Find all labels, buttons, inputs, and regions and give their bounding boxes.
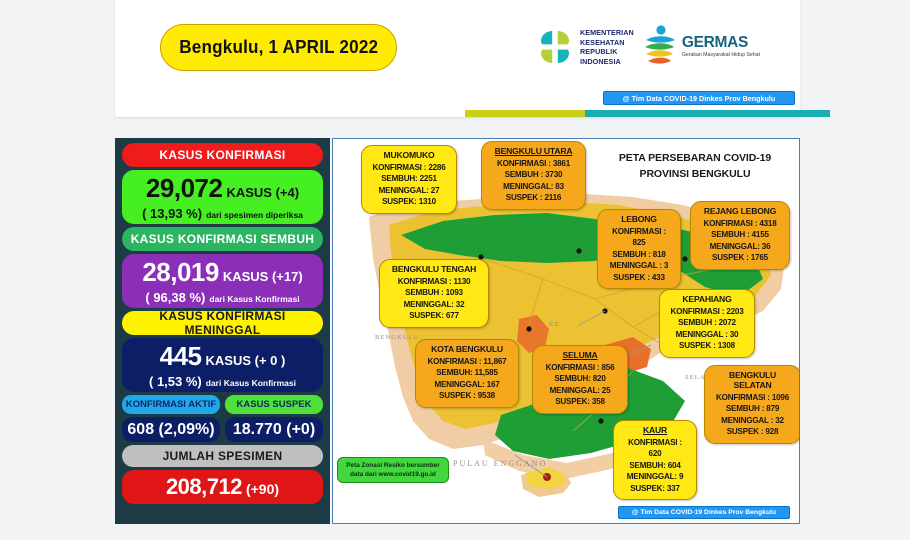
region-sembuh: SEMBUH: 604 — [621, 460, 689, 471]
deaths-percent: ( 1,53 %) — [149, 374, 202, 389]
region-konfirmasi: KONFIRMASI : 2286 — [369, 162, 449, 173]
region-konfirmasi: KONFIRMASI : 11,867 — [423, 356, 511, 367]
region-box-rejang-lebong[interactable]: REJANG LEBONG KONFIRMASI : 4318 SEMBUH :… — [690, 201, 790, 270]
region-box-kaur[interactable]: KAUR KONFIRMASI : 620 SEMBUH: 604 MENING… — [613, 420, 697, 500]
region-konfirmasi: KONFIRMASI : 1130 — [387, 276, 481, 287]
specimens-value-block: 208,712 (+90) — [122, 470, 323, 504]
region-sembuh: SEMBUH : 2072 — [667, 317, 747, 328]
recovered-value: 28,019 — [142, 257, 219, 288]
kemenkes-line-3: REPUBLIK — [580, 47, 634, 57]
region-konfirmasi: KONFIRMASI : 3861 — [489, 158, 578, 169]
region-box-seluma[interactable]: SELUMA KONFIRMASI : 856 SEMBUH: 820 MENI… — [532, 345, 628, 414]
region-sembuh: SEMBUH : 818 — [605, 249, 673, 260]
active-value: 608 (2,09%) — [127, 421, 214, 439]
deaths-percent-note: dari Kasus Konfirmasi — [206, 378, 296, 388]
specimens-header: JUMLAH SPESIMEN — [122, 445, 323, 467]
region-name: LEBONG — [605, 214, 673, 224]
kemenkes-wordmark: KEMENTERIAN KESEHATAN REPUBLIK INDONESIA — [580, 28, 634, 66]
confirmed-sub-line: ( 13,93 %) dari spesimen diperiksa — [142, 206, 303, 221]
region-box-kepahiang[interactable]: KEPAHIANG KONFIRMASI : 2203 SEMBUH : 207… — [659, 289, 755, 358]
region-konfirmasi: KONFIRMASI : 856 — [540, 362, 620, 373]
region-sembuh: SEMBUH: 11,585 — [423, 367, 511, 378]
specimens-main-line: 208,712 (+90) — [166, 474, 279, 500]
germas-subtitle: Gerakan Masyarakat Hidup Sehat — [682, 52, 760, 59]
region-name: KEPAHIANG — [667, 294, 747, 304]
geo-label-enggano: PULAU ENGGANO — [453, 459, 547, 468]
recovered-percent-note: dari Kasus Konfirmasi — [209, 294, 299, 304]
accent-bar-teal — [585, 110, 830, 117]
region-sembuh: SEMBUH : 1093 — [387, 287, 481, 298]
confirmed-percent-note: dari spesimen diperiksa — [206, 210, 303, 220]
region-meninggal: MENINGGAL: 32 — [387, 299, 481, 310]
recovered-header: KASUS KONFIRMASI SEMBUH — [122, 227, 323, 251]
date-badge: Bengkulu, 1 APRIL 2022 — [160, 24, 397, 71]
region-name: BENGKULU SELATAN — [712, 370, 793, 390]
logo-row: KEMENTERIAN KESEHATAN REPUBLIK INDONESIA… — [535, 14, 785, 80]
confirmed-header: KASUS KONFIRMASI — [122, 143, 323, 167]
region-name: BENGKULU TENGAH — [387, 264, 481, 274]
region-meninggal: MENINGGAL : 30 — [667, 329, 747, 340]
confirmed-value: 29,072 — [146, 173, 223, 204]
region-suspek: SUSPEK: 677 — [387, 310, 481, 321]
kemenkes-line-1: KEMENTERIAN — [580, 28, 634, 38]
germas-figure-icon — [642, 24, 678, 70]
map-credit-text: @ Tim Data COVID-19 Dinkes Prov Bengkulu — [632, 509, 776, 516]
region-name: REJANG LEBONG — [698, 206, 782, 216]
suspect-header-label: KASUS SUSPEK — [237, 399, 312, 410]
region-meninggal: MENINGGAL : 3 — [605, 260, 673, 271]
map-credit-badge: @ Tim Data COVID-19 Dinkes Prov Bengkulu — [618, 506, 790, 519]
confirmed-header-label: KASUS KONFIRMASI — [159, 148, 285, 162]
suspect-column: KASUS SUSPEK 18.770 (+0) — [225, 395, 323, 442]
region-name: MUKOMUKO — [369, 150, 449, 160]
region-box-kota-bengkulu[interactable]: KOTA BENGKULU KONFIRMASI : 11,867 SEMBUH… — [415, 339, 519, 408]
confirmed-value-block: 29,072 KASUS (+4) ( 13,93 %) dari spesim… — [122, 170, 323, 224]
specimens-value: 208,712 — [166, 474, 242, 500]
active-column: KONFIRMASI AKTIF 608 (2,09%) — [122, 395, 220, 442]
stats-panel: KASUS KONFIRMASI 29,072 KASUS (+4) ( 13,… — [115, 138, 330, 524]
recovered-header-label: KASUS KONFIRMASI SEMBUH — [131, 232, 315, 246]
recovered-value-block: 28,019 KASUS (+17) ( 96,38 %) dari Kasus… — [122, 254, 323, 308]
deaths-value: 445 — [160, 341, 202, 372]
germas-logo: GERMAS Gerakan Masyarakat Hidup Sehat — [642, 24, 760, 70]
deaths-value-block: 445 KASUS (+ 0 ) ( 1,53 %) dari Kasus Ko… — [122, 338, 323, 392]
deaths-header: KASUS KONFIRMASI MENINGGAL — [122, 311, 323, 335]
deaths-unit: KASUS (+ 0 ) — [206, 353, 286, 368]
region-box-mukomuko[interactable]: MUKOMUKO KONFIRMASI : 2286 SEMBUH: 2251 … — [361, 145, 457, 214]
region-meninggal: MENINGGAL: 25 — [540, 385, 620, 396]
deaths-main-line: 445 KASUS (+ 0 ) — [160, 341, 286, 372]
region-sembuh: SEMBUH : 879 — [712, 403, 793, 414]
region-box-bengkulu-selatan[interactable]: BENGKULU SELATAN KONFIRMASI : 1096 SEMBU… — [704, 365, 800, 444]
region-meninggal: MENINGGAL: 27 — [369, 185, 449, 196]
region-konfirmasi: KONFIRMASI : 620 — [621, 437, 689, 460]
region-name: BENGKULU UTARA — [489, 146, 578, 156]
header-credit-text: @ Tim Data COVID-19 Dinkes Prov Bengkulu — [623, 94, 776, 103]
zone-source-note: Peta Zonasi Resiko bersumber data dari w… — [337, 457, 449, 483]
active-header: KONFIRMASI AKTIF — [122, 395, 220, 414]
confirmed-unit: KASUS (+4) — [226, 185, 299, 200]
deaths-sub-line: ( 1,53 %) dari Kasus Konfirmasi — [149, 374, 296, 389]
region-meninggal: MENINGGAL: 36 — [698, 241, 782, 252]
region-suspek: SUSPEK : 1765 — [698, 252, 782, 263]
region-box-bengkulu-utara[interactable]: BENGKULU UTARA KONFIRMASI : 3861 SEMBUH … — [481, 141, 586, 210]
region-suspek: SUSPEK: 1310 — [369, 196, 449, 207]
germas-wordmark: GERMAS Gerakan Masyarakat Hidup Sehat — [682, 35, 760, 60]
region-konfirmasi: KONFIRMASI : 1096 — [712, 392, 793, 403]
region-meninggal: MENINGGAL : 32 — [712, 415, 793, 426]
region-meninggal: MENINGGAL: 9 — [621, 471, 689, 482]
active-header-label: KONFIRMASI AKTIF — [126, 399, 216, 410]
dashboard-page: Bengkulu, 1 APRIL 2022 KEMENTERIAN KESEH… — [0, 0, 910, 540]
region-suspek: SUSPEK : 2116 — [489, 192, 578, 203]
suspect-header: KASUS SUSPEK — [225, 395, 323, 414]
header-credit-badge: @ Tim Data COVID-19 Dinkes Prov Bengkulu — [603, 91, 795, 105]
recovered-percent: ( 96,38 %) — [145, 290, 205, 305]
header-card: Bengkulu, 1 APRIL 2022 KEMENTERIAN KESEH… — [115, 0, 800, 117]
geo-label-bengkulu: BENGKULU — [375, 334, 420, 341]
deaths-header-label: KASUS KONFIRMASI MENINGGAL — [122, 309, 323, 337]
region-suspek: SUSPEK: 358 — [540, 396, 620, 407]
region-box-bengkulu-tengah[interactable]: BENGKULU TENGAH KONFIRMASI : 1130 SEMBUH… — [379, 259, 489, 328]
map-panel: PETA PERSEBARAN COVID-19 PROVINSI BENGKU… — [332, 138, 800, 524]
region-meninggal: MENINGGAL: 167 — [423, 379, 511, 390]
recovered-unit: KASUS (+17) — [223, 269, 303, 284]
region-box-lebong[interactable]: LEBONG KONFIRMASI : 825 SEMBUH : 818 MEN… — [597, 209, 681, 289]
active-value-block: 608 (2,09%) — [122, 417, 220, 442]
specimens-unit: (+90) — [246, 481, 279, 497]
region-suspek: SUSPEK : 928 — [712, 426, 793, 437]
region-suspek: SUSPEK : 433 — [605, 272, 673, 283]
region-sembuh: SEMBUH : 3730 — [489, 169, 578, 180]
confirmed-main-line: 29,072 KASUS (+4) — [146, 173, 299, 204]
region-suspek: SUSPEK: 337 — [621, 483, 689, 494]
region-sembuh: SEMBUH: 2251 — [369, 173, 449, 184]
region-name: KOTA BENGKULU — [423, 344, 511, 354]
recovered-main-line: 28,019 KASUS (+17) — [142, 257, 302, 288]
accent-bar-yellow — [465, 110, 585, 117]
region-suspek: SUSPEK : 1308 — [667, 340, 747, 351]
region-sembuh: SEMBUH : 4155 — [698, 229, 782, 240]
recovered-sub-line: ( 96,38 %) dari Kasus Konfirmasi — [145, 290, 299, 305]
kemenkes-line-4: INDONESIA — [580, 57, 634, 67]
suspect-value: 18.770 (+0) — [233, 421, 315, 439]
geo-label-kepahiang: KE — [549, 321, 560, 328]
region-konfirmasi: KONFIRMASI : 825 — [605, 226, 673, 249]
zone-source-text: Peta Zonasi Resiko bersumber data dari w… — [341, 461, 445, 480]
region-name: SELUMA — [540, 350, 620, 360]
kemenkes-logo: KEMENTERIAN KESEHATAN REPUBLIK INDONESIA — [535, 27, 634, 67]
region-konfirmasi: KONFIRMASI : 4318 — [698, 218, 782, 229]
kemenkes-line-2: KESEHATAN — [580, 38, 634, 48]
active-suspect-row: KONFIRMASI AKTIF 608 (2,09%) KASUS SUSPE… — [122, 395, 323, 442]
region-name: KAUR — [621, 425, 689, 435]
date-label: Bengkulu, 1 APRIL 2022 — [179, 37, 378, 58]
region-sembuh: SEMBUH: 820 — [540, 373, 620, 384]
germas-title: GERMAS — [682, 35, 760, 51]
region-konfirmasi: KONFIRMASI : 2203 — [667, 306, 747, 317]
region-suspek: SUSPEK : 9538 — [423, 390, 511, 401]
specimens-header-label: JUMLAH SPESIMEN — [163, 449, 283, 463]
suspect-value-block: 18.770 (+0) — [225, 417, 323, 442]
kemenkes-flower-icon — [535, 27, 575, 67]
confirmed-percent: ( 13,93 %) — [142, 206, 202, 221]
region-meninggal: MENINGGAL: 83 — [489, 181, 578, 192]
